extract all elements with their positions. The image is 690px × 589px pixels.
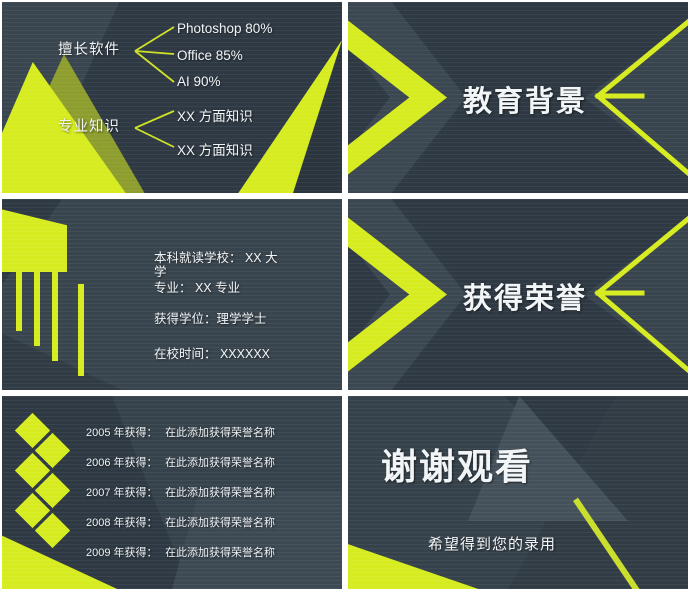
honor-value: 在此添加获得荣誉名称 (165, 427, 275, 439)
honor-row: 2007 年获得： 在此添加获得荣誉名称 (86, 484, 275, 500)
accent-bar-4 (78, 284, 84, 376)
honor-value: 在此添加获得荣誉名称 (165, 547, 275, 559)
skill-connector-lines (2, 2, 342, 193)
education-line-major: 专业： XX 专业 (154, 277, 240, 296)
education-line-period: 在校时间： XXXXXX (154, 343, 270, 362)
honor-row: 2009 年获得： 在此添加获得荣誉名称 (86, 544, 275, 560)
skill-item-office: Office 85% (177, 48, 243, 63)
honor-year: 2009 年获得： (86, 544, 162, 560)
honor-row: 2006 年获得： 在此添加获得荣誉名称 (86, 454, 275, 470)
dark-chevron-shape (348, 2, 466, 193)
page-title: 谢谢观看 (381, 438, 533, 490)
honor-value: 在此添加获得荣誉名称 (165, 457, 275, 469)
education-line-school: 本科就读学校： XX 大 (154, 247, 278, 266)
honor-value: 在此添加获得荣誉名称 (165, 517, 275, 529)
skills-group-label-software: 擅长软件 (58, 38, 120, 59)
skills-slide[interactable]: 擅长软件 专业知识 Photoshop 80% Office 85% AI 90… (2, 2, 342, 193)
accent-bar-3 (52, 271, 58, 361)
dark-lower-wedge (172, 491, 342, 589)
knowledge-item-1: XX 方面知识 (177, 105, 253, 125)
education-line-degree: 获得学位：理学学士 (154, 308, 267, 327)
thanks-slide[interactable]: 谢谢观看 希望得到您的录用 (348, 396, 688, 589)
arrow-left-icon (580, 10, 688, 185)
honor-year: 2008 年获得： (86, 514, 162, 530)
skill-item-ai: AI 90% (177, 74, 221, 89)
honor-year: 2007 年获得： (86, 484, 162, 500)
honor-year: 2005 年获得： (86, 424, 162, 440)
page-title: 教育背景 (463, 78, 587, 120)
accent-bar-2 (34, 271, 40, 346)
honor-row: 2008 年获得： 在此添加获得荣誉名称 (86, 514, 275, 530)
dark-chevron-shape (348, 199, 466, 390)
honors-title-slide[interactable]: 获得荣誉 (348, 199, 688, 390)
page-subtitle: 希望得到您的录用 (428, 533, 556, 554)
slide-grid: 擅长软件 专业知识 Photoshop 80% Office 85% AI 90… (0, 0, 690, 587)
education-title-slide[interactable]: 教育背景 (348, 2, 688, 193)
skill-item-photoshop: Photoshop 80% (177, 21, 272, 36)
honor-row: 2005 年获得： 在此添加获得荣誉名称 (86, 424, 275, 440)
education-detail-slide[interactable]: 本科就读学校： XX 大 学 专业： XX 专业 获得学位：理学学士 在校时间：… (2, 199, 342, 390)
page-title: 获得荣誉 (463, 275, 587, 317)
skills-group-label-knowledge: 专业知识 (58, 115, 120, 136)
knowledge-item-2: XX 方面知识 (177, 139, 253, 159)
arrow-left-icon (580, 207, 688, 382)
honors-list-slide[interactable]: 2005 年获得： 在此添加获得荣誉名称 2006 年获得： 在此添加获得荣誉名… (2, 396, 342, 589)
honor-year: 2006 年获得： (86, 454, 162, 470)
honor-value: 在此添加获得荣誉名称 (165, 487, 275, 499)
accent-bar-1 (16, 271, 22, 331)
